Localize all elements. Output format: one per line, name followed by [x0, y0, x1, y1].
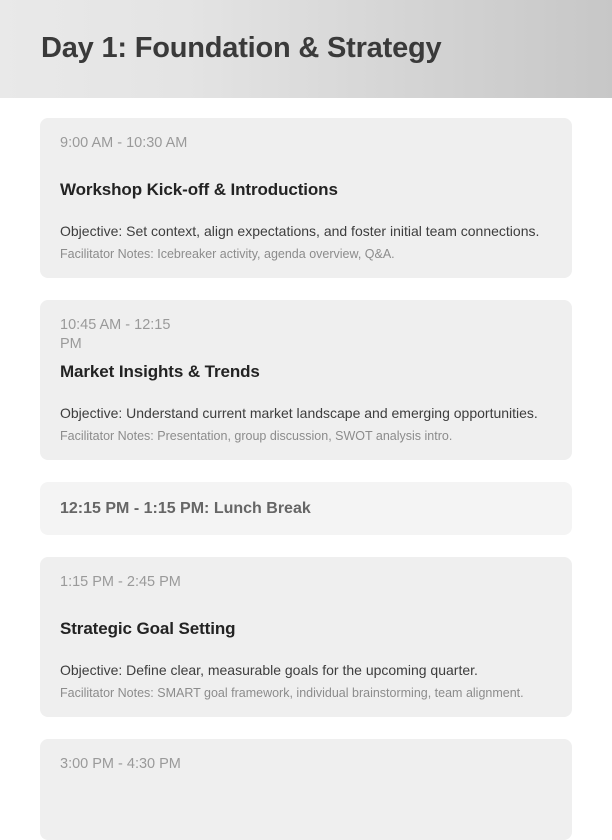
- session-objective: Objective: Set context, align expectatio…: [60, 221, 552, 239]
- session-time: 1:15 PM - 2:45 PM: [60, 573, 188, 592]
- agenda-session-card[interactable]: 10:45 AM - 12:15 PM Market Insights & Tr…: [40, 300, 572, 460]
- agenda-session-card[interactable]: 1:15 PM - 2:45 PM Strategic Goal Setting…: [40, 557, 572, 717]
- agenda-session-card[interactable]: 3:00 PM - 4:30 PM: [40, 739, 572, 840]
- agenda-session-card[interactable]: 9:00 AM - 10:30 AM Workshop Kick-off & I…: [40, 118, 572, 278]
- session-title: Market Insights & Trends: [60, 362, 552, 382]
- agenda-break-card[interactable]: 12:15 PM - 1:15 PM: Lunch Break: [40, 482, 572, 535]
- session-objective: Objective: Understand current market lan…: [60, 403, 552, 421]
- session-time: 3:00 PM - 4:30 PM: [60, 755, 188, 774]
- break-label: 12:15 PM - 1:15 PM: Lunch Break: [60, 499, 552, 518]
- session-objective: Objective: Define clear, measurable goal…: [60, 660, 552, 678]
- session-facilitator-notes: Facilitator Notes: SMART goal framework,…: [60, 685, 552, 703]
- agenda-list: 9:00 AM - 10:30 AM Workshop Kick-off & I…: [0, 98, 612, 840]
- session-objective: [60, 801, 552, 819]
- page-header: Day 1: Foundation & Strategy: [0, 0, 612, 98]
- session-time: 10:45 AM - 12:15 PM: [60, 316, 188, 335]
- session-facilitator-notes: Facilitator Notes: Icebreaker activity, …: [60, 246, 552, 264]
- page-title: Day 1: Foundation & Strategy: [41, 33, 441, 65]
- session-facilitator-notes: Facilitator Notes: Presentation, group d…: [60, 428, 552, 446]
- session-title: Strategic Goal Setting: [60, 619, 552, 639]
- session-title: Workshop Kick-off & Introductions: [60, 180, 552, 200]
- session-time: 9:00 AM - 10:30 AM: [60, 134, 188, 153]
